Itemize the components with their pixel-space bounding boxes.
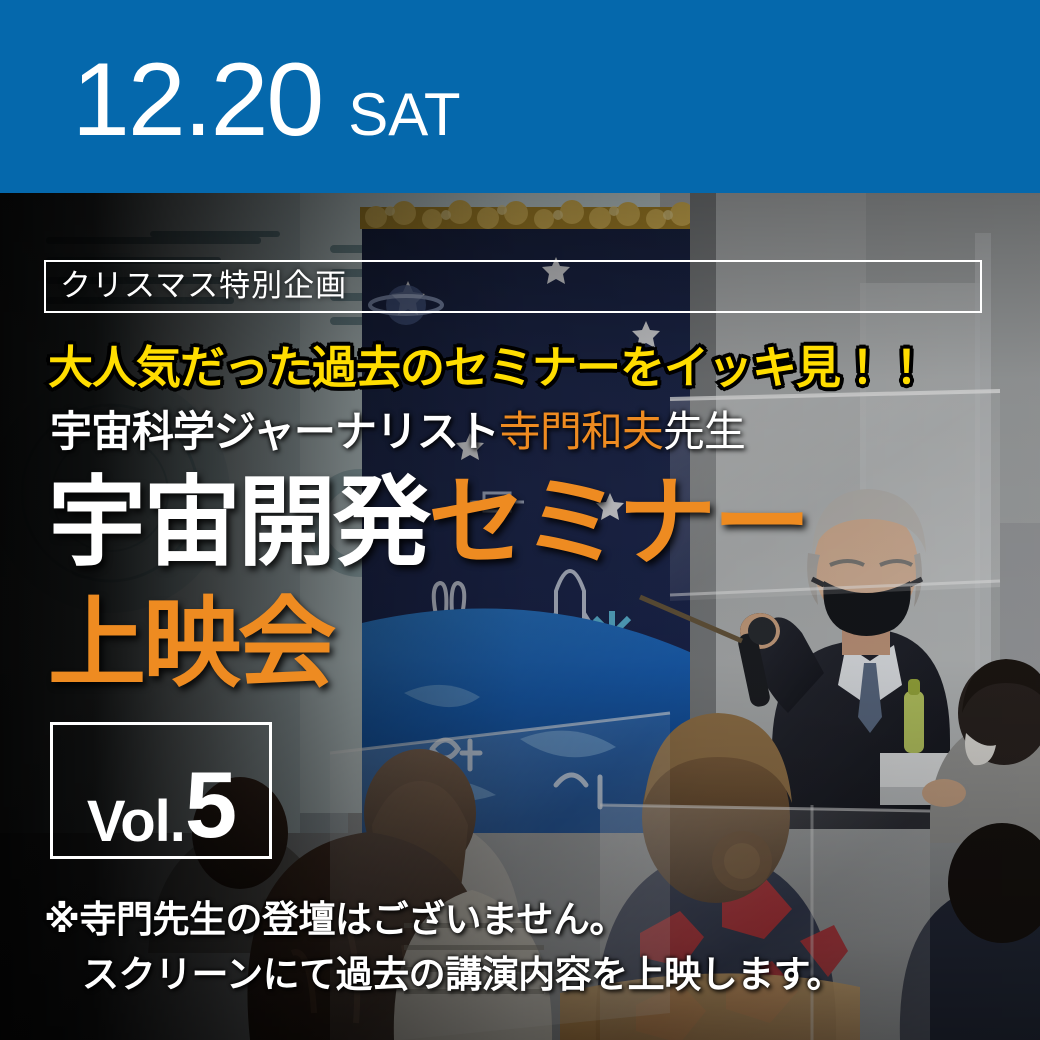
volume-label: Vol. [87, 795, 185, 848]
event-poster: 12.20 SAT クリスマス特別企画 大人気だった過去のセミナーをイッキ見！！… [0, 0, 1040, 1040]
christmas-special-label: クリスマス特別企画 [46, 271, 347, 302]
volume-badge: Vol.5 [50, 722, 272, 859]
volume-number: 5 [185, 762, 235, 848]
presenter-line: 宇宙科学ジャーナリスト寺門和夫先生 [50, 411, 745, 453]
main-title-white: 宇宙開発 [48, 466, 428, 580]
main-title-line-1: 宇宙開発セミナー [48, 474, 808, 572]
main-title-orange: セミナー [428, 466, 808, 580]
event-date: 12.20 [72, 48, 322, 152]
main-title-screening: 上映会 [48, 587, 333, 701]
presenter-name: 寺門和夫 [499, 407, 663, 456]
presenter-honorific: 先生 [663, 407, 745, 456]
date-group: 12.20 SAT [72, 48, 461, 152]
disclaimer-notes: ※寺門先生の登壇はございません。 スクリーンにて過去の講演内容を上映します。 [44, 893, 843, 1003]
christmas-special-badge: クリスマス特別企画 [44, 260, 982, 313]
catchcopy: 大人気だった過去のセミナーをイッキ見！！ [48, 345, 928, 390]
poster-content: クリスマス特別企画 大人気だった過去のセミナーをイッキ見！！ 宇宙科学ジャーナリ… [0, 193, 1040, 1040]
disclaimer-line-2: スクリーンにて過去の講演内容を上映します。 [44, 948, 843, 1003]
event-weekday: SAT [348, 85, 460, 145]
main-title-line-2: 上映会 [48, 595, 333, 693]
date-band: 12.20 SAT [0, 0, 1040, 193]
presenter-role: 宇宙科学ジャーナリスト [50, 407, 499, 456]
disclaimer-line-1: ※寺門先生の登壇はございません。 [44, 898, 626, 941]
